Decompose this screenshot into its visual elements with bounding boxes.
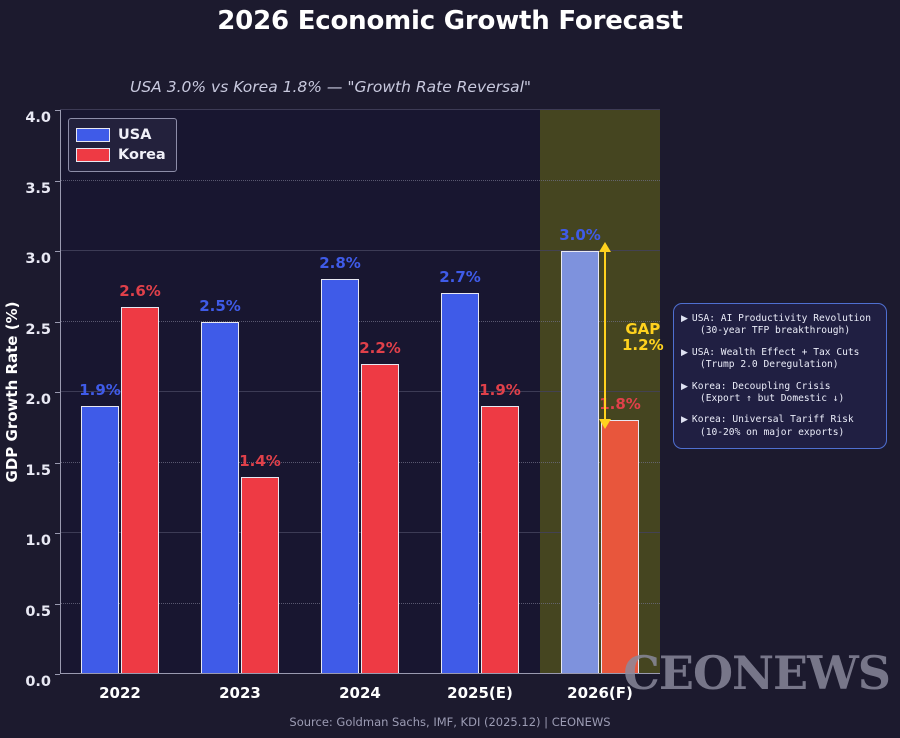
annotation-item: ▶USA: Wealth Effect + Tax Cuts(Trump 2.0… (681, 347, 878, 372)
y-tick-mark (55, 181, 60, 182)
ceonews-watermark: CEONEWS (623, 646, 890, 700)
bar-korea-2025e[interactable] (481, 406, 519, 674)
x-tick-label-2022: 2022 (99, 684, 141, 702)
annotation-item: ▶Korea: Universal Tariff Risk(10-20% on … (681, 414, 878, 439)
gridline (60, 180, 660, 181)
annotation-sub-line: (10-20% on major exports) (692, 427, 854, 439)
y-axis-label: GDP Growth Rate (%) (3, 302, 21, 483)
x-axis-line (60, 673, 660, 674)
bar-label-korea-2023: 1.4% (239, 452, 281, 470)
bar-korea-2026f[interactable] (601, 420, 639, 674)
highlight-band-2026 (540, 110, 660, 674)
annotation-item: ▶USA: AI Productivity Revolution(30-year… (681, 313, 878, 338)
bar-label-usa-2022: 1.9% (79, 381, 121, 399)
bar-korea-2023[interactable] (241, 477, 279, 674)
bar-label-korea-2022: 2.6% (119, 282, 161, 300)
annotation-main-line: USA: AI Productivity Revolution (692, 313, 871, 325)
y-tick-mark (55, 463, 60, 464)
legend-swatch-usa (76, 128, 110, 142)
page-title: 2026 Economic Growth Forecast (0, 6, 900, 36)
annotation-sub-line: (Export ↑ but Domestic ↓) (692, 393, 844, 405)
bullet-triangle-icon: ▶ (681, 381, 688, 394)
bullet-triangle-icon: ▶ (681, 313, 688, 326)
bullet-triangle-icon: ▶ (681, 347, 688, 360)
y-tick-mark (55, 604, 60, 605)
gap-label: GAP 1.2% (622, 321, 664, 353)
x-tick-label-2025e: 2025(E) (447, 684, 513, 702)
gap-label-line1: GAP (622, 321, 664, 337)
annotation-main-line: Korea: Decoupling Crisis (692, 381, 844, 393)
x-tick-label-2024: 2024 (339, 684, 381, 702)
y-tick-mark (55, 251, 60, 252)
y-tick-mark (55, 392, 60, 393)
bar-korea-2022[interactable] (121, 307, 159, 674)
legend-swatch-korea (76, 148, 110, 162)
source-note: Source: Goldman Sachs, IMF, KDI (2025.12… (0, 715, 900, 729)
annotation-text: Korea: Decoupling Crisis(Export ↑ but Do… (692, 381, 844, 406)
bar-label-usa-2026f: 3.0% (559, 226, 601, 244)
bar-korea-2024[interactable] (361, 364, 399, 674)
legend-item-korea[interactable]: Korea (76, 145, 166, 165)
bar-usa-2022[interactable] (81, 406, 119, 674)
bar-label-usa-2024: 2.8% (319, 254, 361, 272)
gap-arrow-line (604, 251, 607, 420)
y-tick-mark (55, 110, 60, 111)
annotation-item: ▶Korea: Decoupling Crisis(Export ↑ but D… (681, 381, 878, 406)
annotation-text: Korea: Universal Tariff Risk(10-20% on m… (692, 414, 854, 439)
bar-usa-2025e[interactable] (441, 293, 479, 674)
plot-area: 1.9%2.5%2.8%2.7%3.0%2.6%1.4%2.2%1.9%1.8%… (60, 110, 660, 674)
x-tick-label-2023: 2023 (219, 684, 261, 702)
gridline (60, 109, 660, 110)
bar-label-usa-2025e: 2.7% (439, 268, 481, 286)
y-tick-mark (55, 674, 60, 675)
annotation-text: USA: AI Productivity Revolution(30-year … (692, 313, 871, 338)
gap-label-line2: 1.2% (622, 337, 664, 353)
legend-label-usa: USA (118, 127, 151, 143)
bar-usa-2026f[interactable] (561, 251, 599, 674)
annotation-text: USA: Wealth Effect + Tax Cuts(Trump 2.0 … (692, 347, 860, 372)
gap-arrow-head-down (599, 419, 611, 429)
bar-usa-2024[interactable] (321, 279, 359, 674)
bar-label-usa-2023: 2.5% (199, 297, 241, 315)
y-tick-mark (55, 322, 60, 323)
chart-root: 2026 Economic Growth Forecast USA 3.0% v… (0, 0, 900, 738)
bar-label-korea-2025e: 1.9% (479, 381, 521, 399)
bar-usa-2023[interactable] (201, 322, 239, 675)
annotation-box: ▶USA: AI Productivity Revolution(30-year… (673, 303, 887, 449)
legend[interactable]: USAKorea (68, 118, 177, 172)
annotation-main-line: Korea: Universal Tariff Risk (692, 414, 854, 426)
legend-label-korea: Korea (118, 147, 166, 163)
gap-arrow-head-up (599, 242, 611, 252)
annotation-sub-line: (30-year TFP breakthrough) (692, 325, 871, 337)
bar-label-korea-2024: 2.2% (359, 339, 401, 357)
bullet-triangle-icon: ▶ (681, 414, 688, 427)
annotation-main-line: USA: Wealth Effect + Tax Cuts (692, 347, 860, 359)
y-axis-line (60, 110, 61, 674)
y-tick-mark (55, 533, 60, 534)
legend-item-usa[interactable]: USA (76, 125, 166, 145)
annotation-sub-line: (Trump 2.0 Deregulation) (692, 359, 860, 371)
chart-subtitle: USA 3.0% vs Korea 1.8% — "Growth Rate Re… (130, 78, 531, 96)
